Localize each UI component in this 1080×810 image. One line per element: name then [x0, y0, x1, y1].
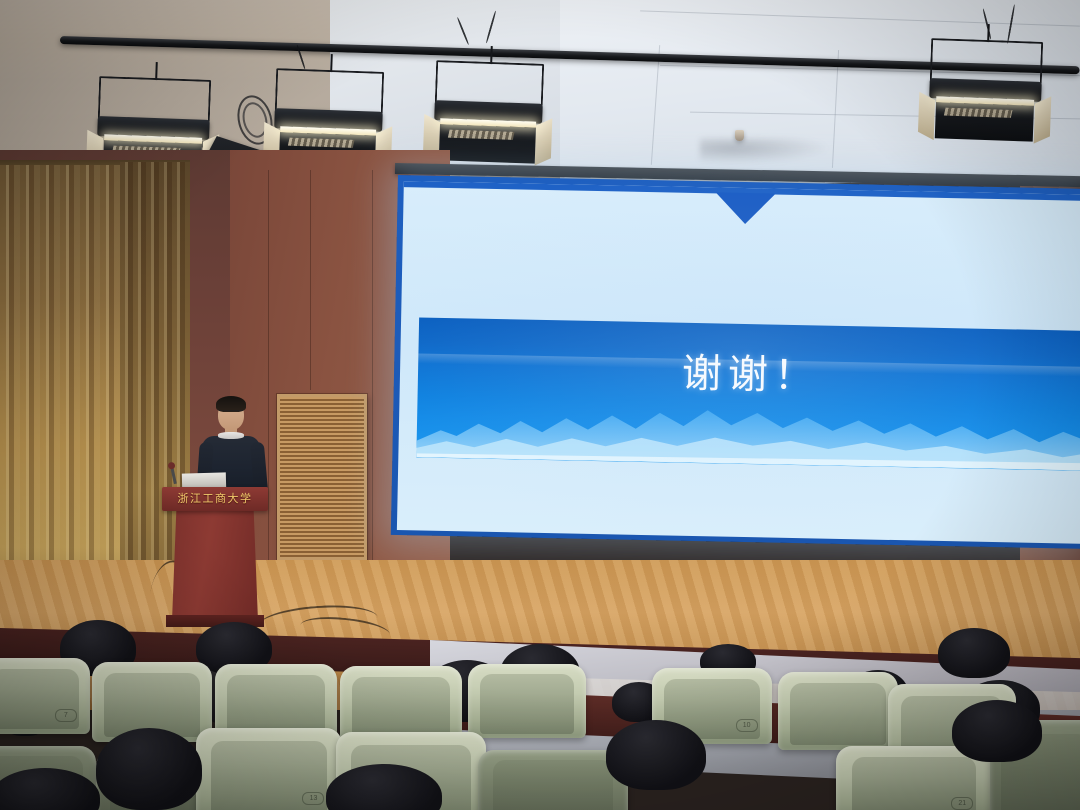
stage-light-fixture	[929, 38, 1043, 112]
seat-number: 10	[736, 719, 758, 732]
presenter-collar	[218, 432, 244, 439]
ceiling-shadow	[700, 138, 830, 164]
auditorium-seat[interactable]: 13	[196, 728, 342, 810]
glasses-icon	[219, 410, 243, 416]
slide-blue-band: 谢谢！	[416, 318, 1080, 471]
barn-door-right	[1034, 96, 1052, 143]
auditorium-photo: 谢谢！ 浙江工商大学	[0, 0, 1080, 810]
presentation-slide: 谢谢！	[397, 181, 1080, 544]
stage-light-fixture	[97, 76, 211, 150]
seat-cushion	[493, 760, 613, 810]
seat-number: 21	[951, 797, 973, 810]
audience-head	[96, 728, 202, 810]
sprinkler-head-icon	[735, 130, 744, 141]
auditorium-seat[interactable]	[340, 666, 462, 742]
auditorium-seat[interactable]	[468, 664, 586, 738]
seat-number: 7	[55, 709, 77, 722]
auditorium-seat[interactable]: 7	[0, 658, 90, 734]
barn-door-right	[535, 118, 553, 165]
auditorium-seat[interactable]	[778, 672, 898, 750]
wall-panel-seam	[310, 170, 311, 390]
audience-head	[606, 720, 706, 790]
wall-panel-seam	[268, 170, 269, 590]
lectern-university-label: 浙江工商大学	[162, 490, 268, 506]
chevron-down-icon	[715, 192, 776, 224]
projection-screen: 谢谢！	[391, 175, 1080, 549]
acoustic-louver-panel	[277, 394, 367, 560]
stage-light-fixture	[434, 60, 544, 134]
seat-cushion	[352, 677, 450, 738]
light-front	[439, 122, 535, 163]
audience-area: 7 10 13	[0, 600, 1080, 810]
barn-door-left	[918, 92, 935, 140]
audience-head	[952, 700, 1042, 762]
wall-panel-seam	[372, 170, 373, 570]
seat-cushion	[790, 683, 886, 745]
light-front	[934, 100, 1034, 141]
slide-border: 谢谢！	[391, 175, 1080, 549]
stage-light-fixture	[274, 68, 384, 142]
audience-head	[938, 628, 1010, 678]
seat-number: 13	[302, 792, 324, 805]
seat-cushion	[480, 674, 574, 733]
